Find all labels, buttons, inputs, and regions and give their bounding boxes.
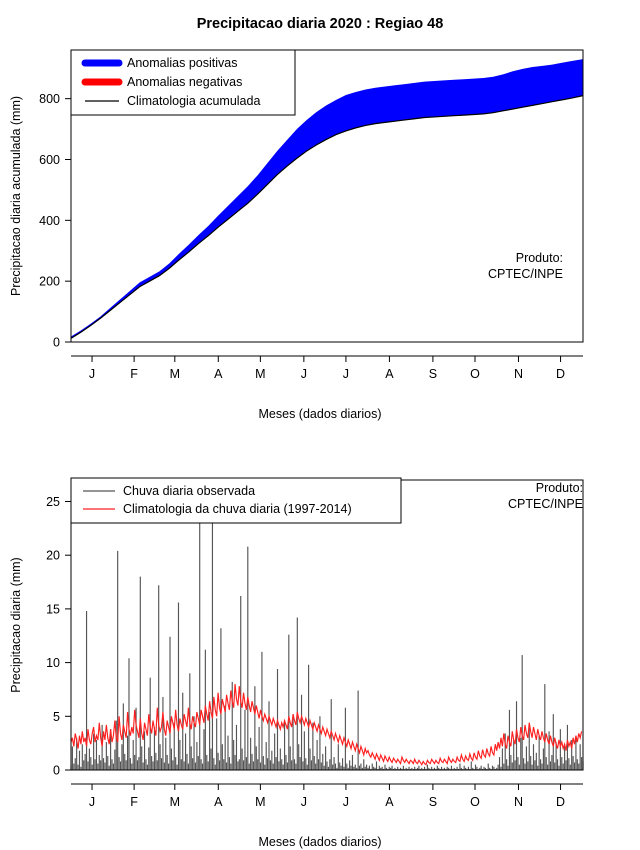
x-tick-label: M <box>255 367 265 381</box>
y-tick-label: 600 <box>39 153 60 167</box>
x-tick-label: D <box>556 367 565 381</box>
x-tick-label: N <box>514 795 523 809</box>
page-title: Precipitacao diaria 2020 : Regiao 48 <box>197 16 444 32</box>
x-tick-label: A <box>214 795 223 809</box>
x-tick-label: N <box>514 367 523 381</box>
x-tick-label: J <box>301 795 307 809</box>
x-tick-label: J <box>301 367 307 381</box>
x-tick-label: M <box>255 795 265 809</box>
legend-label: Anomalias negativas <box>127 75 242 89</box>
producer-label-line2: CPTEC/INPE <box>508 497 583 511</box>
y-tick-label: 15 <box>46 602 60 616</box>
y-tick-label: 5 <box>53 710 60 724</box>
y-tick-label: 400 <box>39 214 60 228</box>
y-tick-label: 0 <box>53 336 60 350</box>
producer-label-line1: Produto: <box>516 251 563 265</box>
y-tick-label: 800 <box>39 92 60 106</box>
x-tick-label: O <box>470 795 480 809</box>
y-tick-label: 20 <box>46 549 60 563</box>
x-tick-label: A <box>385 795 394 809</box>
x-tick-label: S <box>429 795 437 809</box>
x-tick-label: M <box>170 367 180 381</box>
producer-label-line2: CPTEC/INPE <box>488 267 563 281</box>
x-tick-label: A <box>214 367 223 381</box>
accumulated-precipitation-chart: Precipitacao diaria 2020 : Regiao 48 020… <box>0 0 640 430</box>
x-tick-label: J <box>343 367 349 381</box>
legend-label: Chuva diaria observada <box>123 484 255 498</box>
x-tick-label: J <box>89 367 95 381</box>
x-tick-label: J <box>89 795 95 809</box>
y-axis-label: Precipitacao diaria (mm) <box>9 557 23 692</box>
x-tick-label: A <box>385 367 394 381</box>
legend-label: Climatologia acumulada <box>127 94 260 108</box>
x-tick-label: J <box>343 795 349 809</box>
accumulated-chart-svg: Precipitacao diaria 2020 : Regiao 48 020… <box>0 0 640 430</box>
y-tick-label: 25 <box>46 495 60 509</box>
legend-label: Climatologia da chuva diaria (1997-2014) <box>123 502 352 516</box>
y-tick-label: 10 <box>46 656 60 670</box>
y-tick-label: 200 <box>39 275 60 289</box>
x-axis-label: Meses (dados diarios) <box>259 407 382 421</box>
x-tick-label: D <box>556 795 565 809</box>
x-tick-label: M <box>170 795 180 809</box>
x-tick-label: F <box>130 795 138 809</box>
daily-chart-svg: 0510152025JFMAMJJASONDMeses (dados diari… <box>0 430 640 850</box>
x-tick-label: O <box>470 367 480 381</box>
y-axis-label: Precipitacao diaria acumulada (mm) <box>9 96 23 296</box>
x-axis-label: Meses (dados diarios) <box>259 835 382 849</box>
x-tick-label: F <box>130 367 138 381</box>
y-tick-label: 0 <box>53 764 60 778</box>
x-tick-label: S <box>429 367 437 381</box>
figure-page: Precipitacao diaria 2020 : Regiao 48 020… <box>0 0 640 850</box>
daily-precipitation-chart: 0510152025JFMAMJJASONDMeses (dados diari… <box>0 430 640 850</box>
producer-label-line1: Produto: <box>536 481 583 495</box>
legend-label: Anomalias positivas <box>127 56 237 70</box>
